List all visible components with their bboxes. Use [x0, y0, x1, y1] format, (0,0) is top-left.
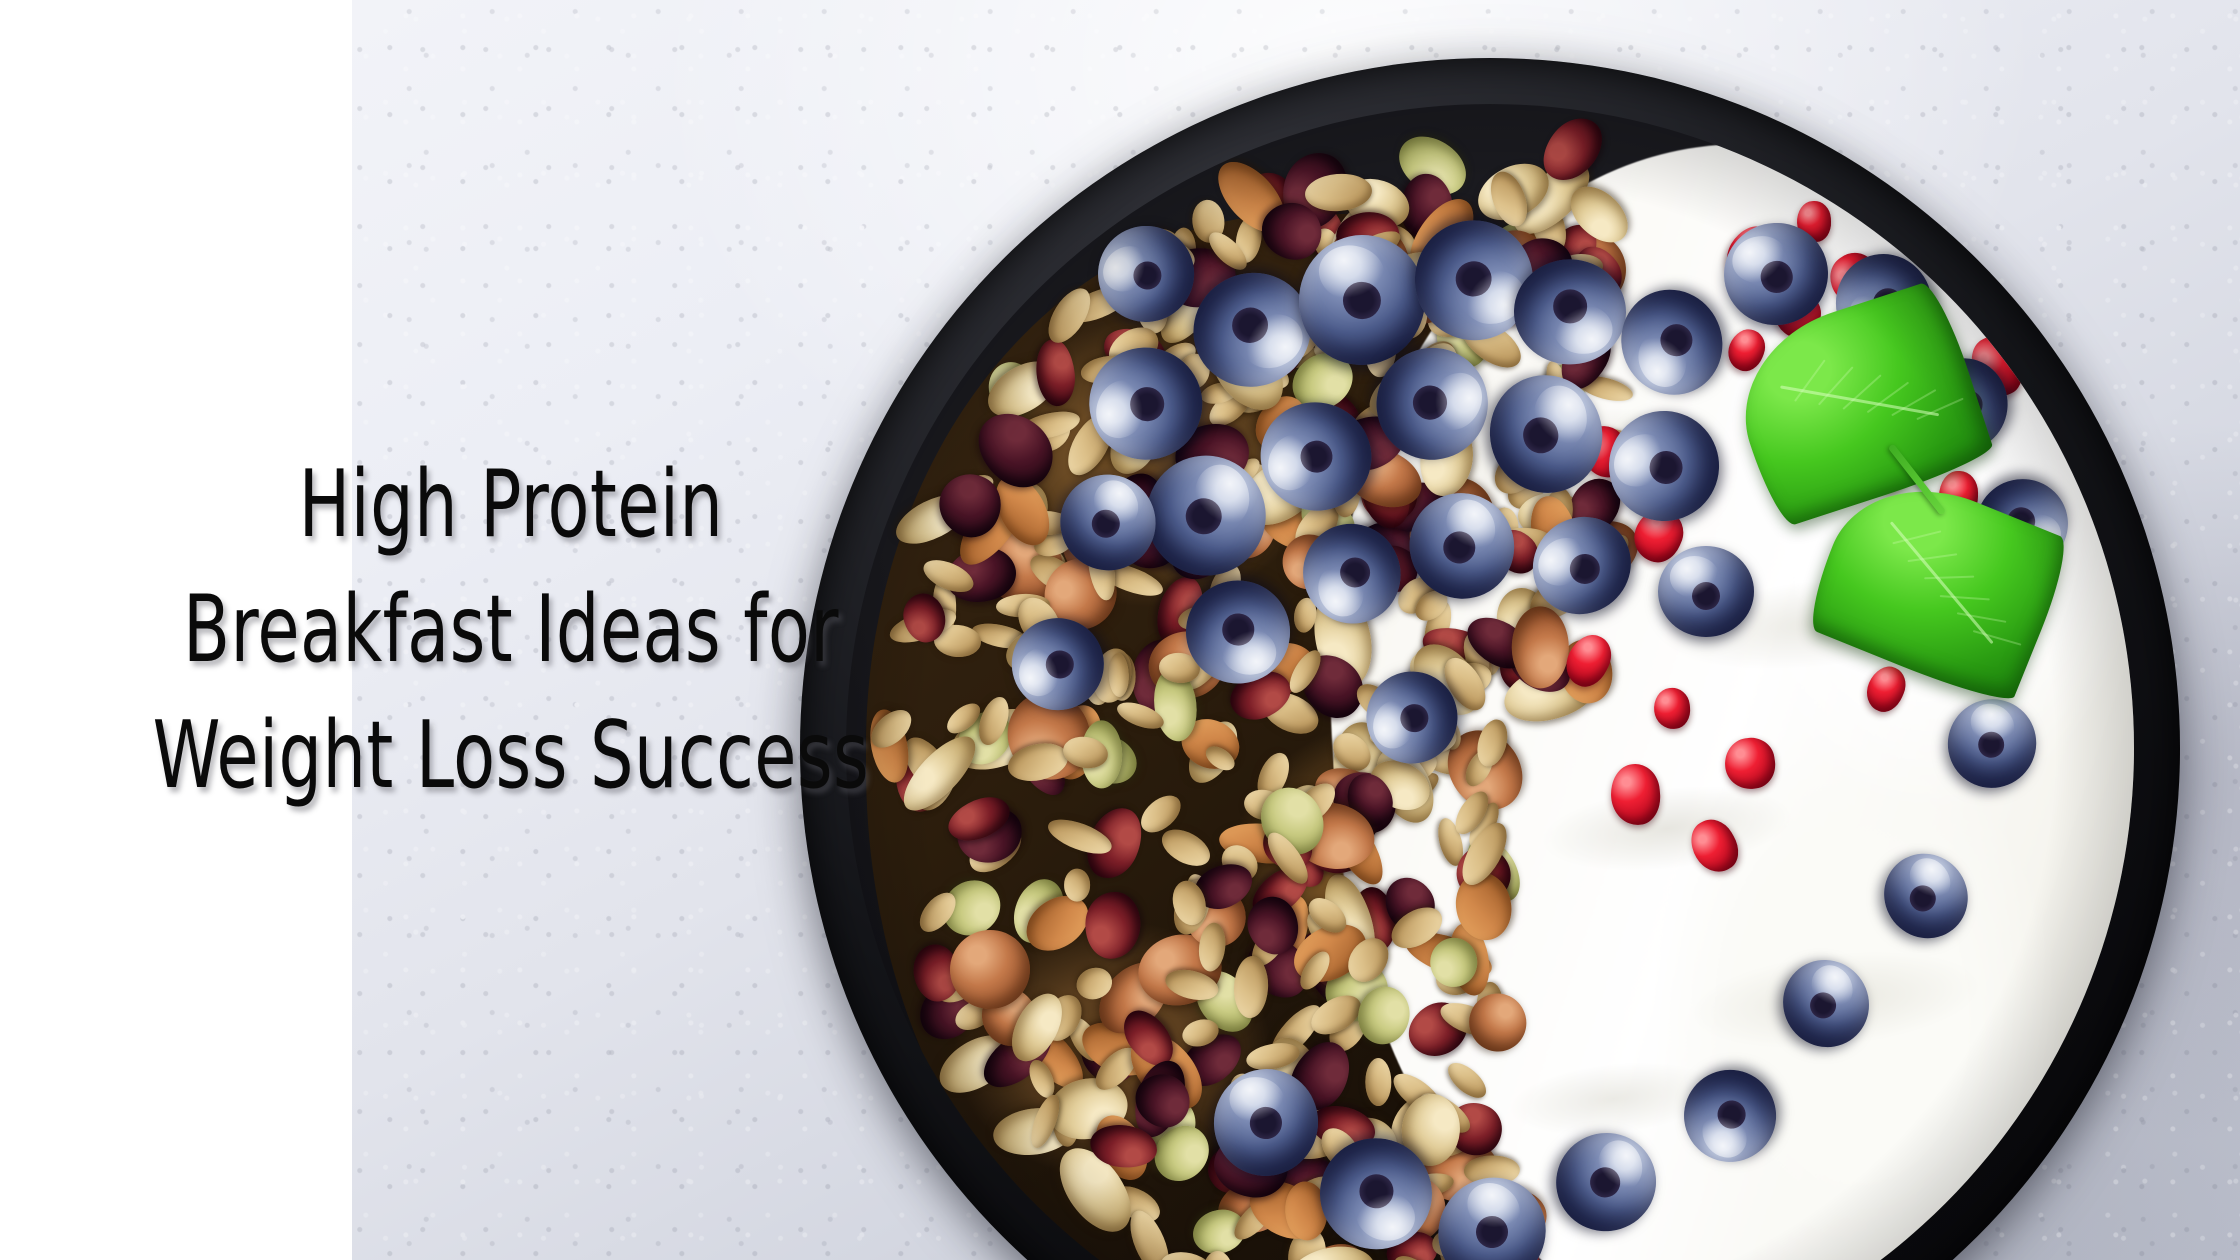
- blueberry-highlight: [1093, 236, 1158, 301]
- blueberry-highlight: [1261, 428, 1323, 496]
- mint-leaf-vein: [1939, 595, 1989, 600]
- mint-leaf-vein: [1907, 553, 1956, 562]
- pinterest-style-recipe-banner: High Protein Breakfast Ideas for Weight …: [0, 0, 2240, 1260]
- blueberry-highlight: [1420, 364, 1491, 439]
- rolled-oat: [1064, 869, 1091, 902]
- mint-leaf-vein: [1956, 612, 2005, 623]
- blueberry-highlight: [1089, 374, 1155, 446]
- white-text-panel: [0, 0, 352, 1260]
- mint-leaf-vein: [1972, 630, 2020, 646]
- pistachio: [1430, 938, 1477, 987]
- rolled-oat: [1365, 1058, 1391, 1106]
- blueberry-highlight: [1553, 304, 1613, 355]
- mint-leaf-vein: [1923, 576, 1973, 580]
- blueberry-highlight: [1458, 1173, 1530, 1243]
- blueberry-highlight: [1963, 696, 2023, 754]
- mint-leaf-vein: [1916, 397, 1963, 419]
- hazelnut: [1512, 606, 1569, 688]
